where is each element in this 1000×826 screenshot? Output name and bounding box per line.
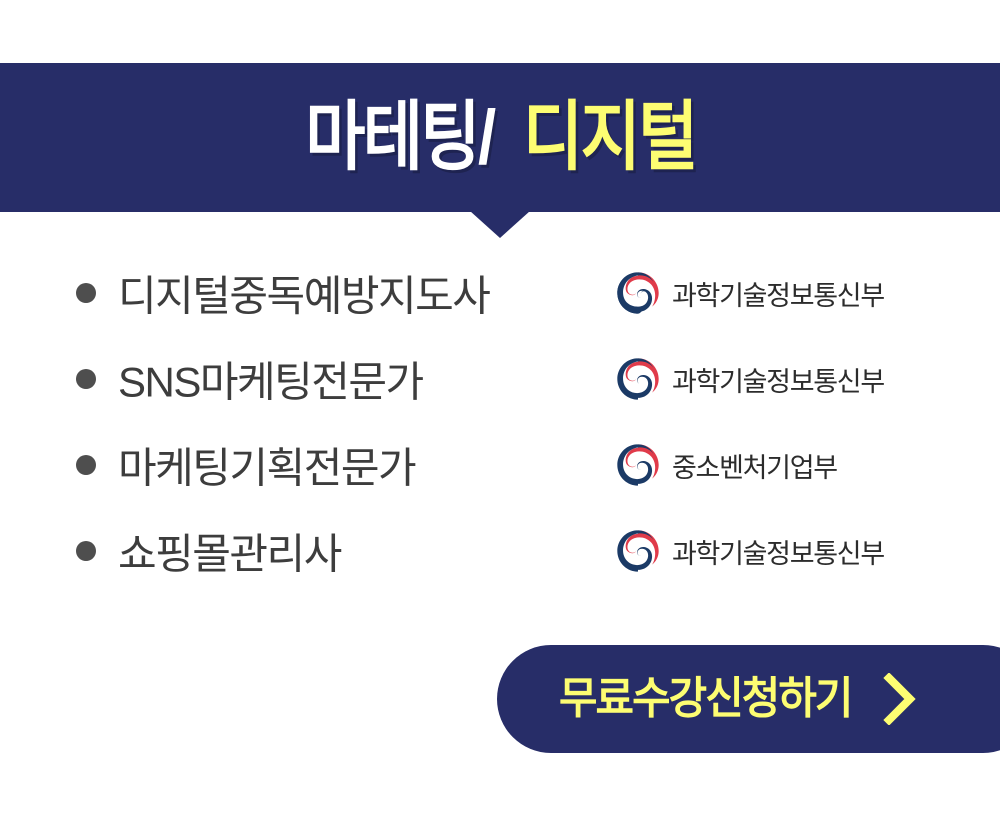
free-enroll-button[interactable]: 무료수강신청하기 <box>497 645 1000 753</box>
agency-name: 중소벤처기업부 <box>672 446 837 485</box>
header-notch-arrow <box>470 211 530 238</box>
list-item: 마케팅기획전문가 중소벤처기업부 <box>0 422 1000 508</box>
promo-banner: 마테팅/디지털 디지털중독예방지도사 과학기술정보통신부 SNS마케팅전문가 <box>0 0 1000 826</box>
list-item: SNS마케팅전문가 과학기술정보통신부 <box>0 336 1000 422</box>
list-item: 디지털중독예방지도사 과학기술정보통신부 <box>0 250 1000 336</box>
bullet-icon <box>76 541 96 561</box>
chevron-right-icon <box>883 673 917 725</box>
agency-name: 과학기술정보통신부 <box>672 532 884 571</box>
agency-name: 과학기술정보통신부 <box>672 274 884 313</box>
course-name: SNS마케팅전문가 <box>118 349 423 410</box>
korea-government-taeguk-icon <box>616 443 660 487</box>
korea-government-taeguk-icon <box>616 271 660 315</box>
page-title-accent: 디지털 <box>523 100 696 176</box>
agency-credential: 과학기술정보통신부 <box>616 529 884 573</box>
agency-credential: 중소벤처기업부 <box>616 443 837 487</box>
bullet-icon <box>76 283 96 303</box>
agency-credential: 과학기술정보통신부 <box>616 357 884 401</box>
course-list: 디지털중독예방지도사 과학기술정보통신부 SNS마케팅전문가 과학기술정보통신부 <box>0 250 1000 594</box>
course-name: 쇼핑몰관리사 <box>118 521 341 582</box>
page-title-primary: 마테팅/ <box>305 100 493 176</box>
course-name: 디지털중독예방지도사 <box>118 263 489 324</box>
agency-credential: 과학기술정보통신부 <box>616 271 884 315</box>
agency-name: 과학기술정보통신부 <box>672 360 884 399</box>
page-title: 마테팅/디지털 <box>0 63 1000 212</box>
korea-government-taeguk-icon <box>616 357 660 401</box>
bullet-icon <box>76 455 96 475</box>
korea-government-taeguk-icon <box>616 529 660 573</box>
free-enroll-button-label: 무료수강신청하기 <box>559 677 851 721</box>
course-name: 마케팅기획전문가 <box>118 435 415 496</box>
bullet-icon <box>76 369 96 389</box>
list-item: 쇼핑몰관리사 과학기술정보통신부 <box>0 508 1000 594</box>
